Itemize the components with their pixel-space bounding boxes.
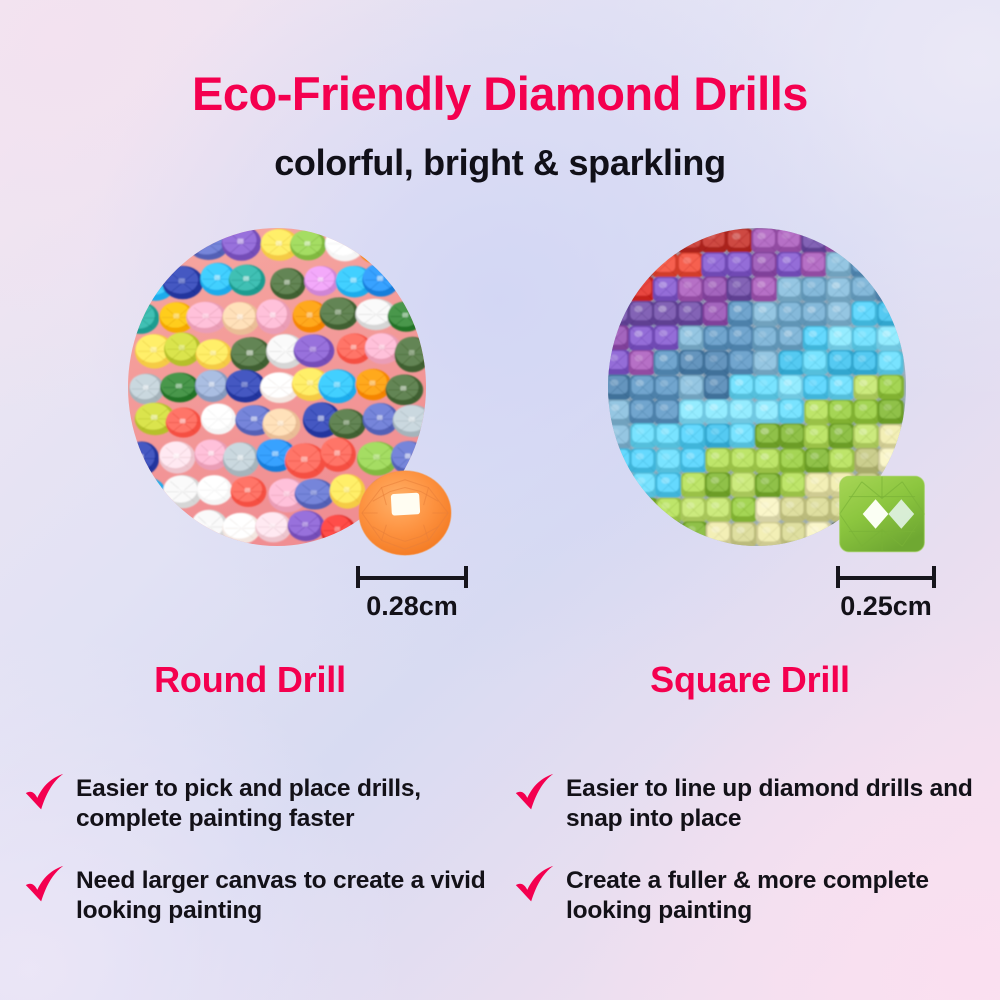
benefit-text: Easier to pick and place drills, complet… (76, 770, 502, 834)
scale-cap-right (932, 566, 936, 588)
list-item: Need larger canvas to create a vivid loo… (22, 862, 502, 926)
round-drill-benefits: Easier to pick and place drills, complet… (22, 770, 502, 954)
round-drill-heading: Round Drill (0, 659, 500, 701)
check-mark-icon (22, 772, 68, 818)
list-item: Create a fuller & more complete looking … (512, 862, 992, 926)
square-drill-heading: Square Drill (500, 659, 1000, 701)
square-drill-benefits: Easier to line up diamond drills and sna… (512, 770, 992, 954)
list-item: Easier to pick and place drills, complet… (22, 770, 502, 834)
round-drill-scale: 0.28cm (356, 566, 468, 622)
scale-label-square: 0.25cm (836, 591, 936, 622)
square-drill-scale: 0.25cm (836, 566, 936, 622)
scale-line (836, 576, 936, 580)
page-title: Eco-Friendly Diamond Drills (0, 66, 1000, 121)
scale-cap-right (464, 566, 468, 588)
check-mark-icon (512, 772, 558, 818)
scale-label-round: 0.28cm (356, 591, 468, 622)
list-item: Easier to line up diamond drills and sna… (512, 770, 992, 834)
benefit-text: Create a fuller & more complete looking … (566, 862, 992, 926)
scale-bar-graphic (356, 566, 468, 588)
round-drill-inset (356, 466, 454, 558)
check-mark-icon (512, 864, 558, 910)
check-mark-icon (22, 864, 68, 910)
benefit-text: Easier to line up diamond drills and sna… (566, 770, 992, 834)
benefit-text: Need larger canvas to create a vivid loo… (76, 862, 502, 926)
infographic-page: Eco-Friendly Diamond Drills colorful, br… (0, 0, 1000, 1000)
scale-line (356, 576, 468, 580)
scale-bar-graphic (836, 566, 936, 588)
page-subtitle: colorful, bright & sparkling (0, 142, 1000, 184)
square-drill-inset (836, 470, 928, 558)
